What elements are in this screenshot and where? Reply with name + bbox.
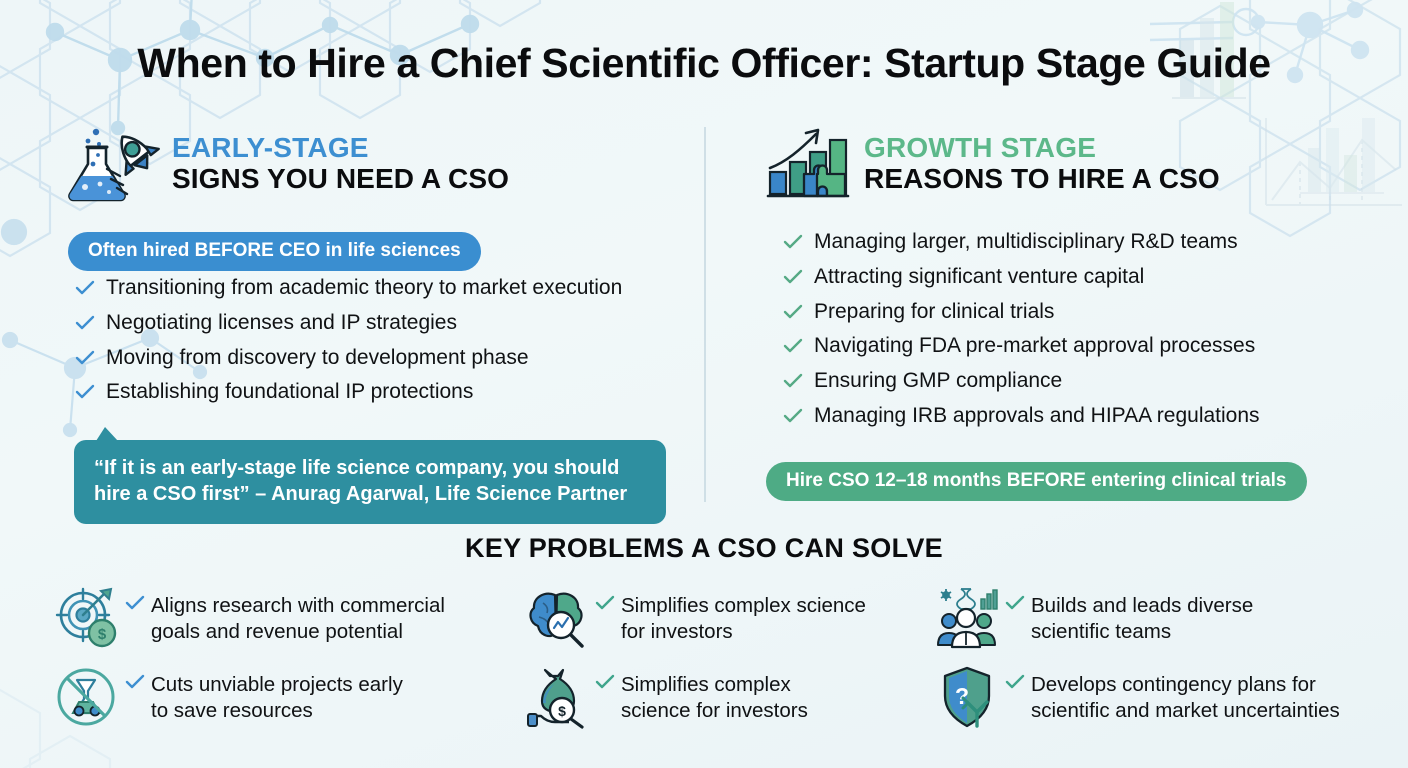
list-item: Navigating FDA pre-market approval proce… [784, 334, 1364, 359]
check-icon [784, 409, 802, 428]
growth-stage-list: Managing larger, multidisciplinary R&D t… [784, 230, 1364, 439]
check-icon [76, 281, 94, 300]
problem-line-2: to save resources [151, 699, 313, 722]
problem-line-1: Cuts unviable projects early [151, 673, 403, 696]
check-icon [125, 664, 145, 694]
list-item: Ensuring GMP compliance [784, 369, 1364, 394]
money-bag-magnifier-icon: $ [525, 664, 589, 730]
growth-chart-puzzle-icon [766, 124, 850, 202]
problem-line-1: Develops contingency plans for [1031, 673, 1316, 696]
svg-text:$: $ [558, 703, 566, 719]
growth-stage-headline: REASONS TO HIRE A CSO [864, 164, 1220, 193]
check-icon [125, 585, 145, 615]
column-divider [704, 127, 706, 502]
early-stage-kicker: EARLY-STAGE [172, 133, 509, 162]
problem-item: Cuts unviable projects early to save res… [55, 664, 525, 743]
problem-item: ? Develops contingency plans for scienti… [935, 664, 1375, 743]
list-item: Transitioning from academic theory to ma… [76, 276, 696, 301]
early-stage-header: EARLY-STAGE SIGNS YOU NEED A CSO [66, 122, 686, 204]
problem-line-1: Aligns research with commercial [151, 594, 445, 617]
growth-stage-badge: Hire CSO 12–18 months BEFORE entering cl… [766, 462, 1307, 501]
infographic-page: When to Hire a Chief Scientific Officer:… [0, 0, 1408, 768]
problem-item: Builds and leads diverse scientific team… [935, 585, 1375, 664]
growth-stage-kicker: GROWTH STAGE [864, 133, 1220, 162]
problem-line-2: scientific and market uncertainties [1031, 699, 1340, 722]
check-icon [1005, 664, 1025, 694]
problem-line-1: Builds and leads diverse [1031, 594, 1253, 617]
early-stage-badge: Often hired BEFORE CEO in life sciences [68, 232, 481, 271]
list-item-label: Ensuring GMP compliance [814, 369, 1062, 394]
check-icon [76, 385, 94, 404]
science-team-icon [935, 585, 999, 651]
problem-line-1: Simplifies complex science [621, 594, 866, 617]
check-icon [595, 585, 615, 615]
check-icon [595, 664, 615, 694]
problem-item: Simplifies complex science for investors [525, 585, 935, 664]
list-item: Managing larger, multidisciplinary R&D t… [784, 230, 1364, 255]
problem-item: $ Simplifies complex science for investo… [525, 664, 935, 743]
early-stage-list: Transitioning from academic theory to ma… [76, 276, 696, 415]
list-item-label: Managing IRB approvals and HIPAA regulat… [814, 404, 1260, 429]
problem-line-2: for investors [621, 620, 733, 643]
list-item-label: Establishing foundational IP protections [106, 380, 473, 405]
problem-label: Simplifies complex science for investors [621, 585, 866, 645]
list-item-label: Transitioning from academic theory to ma… [106, 276, 622, 301]
quote-bubble: “If it is an early-stage life science co… [74, 440, 666, 524]
stage-columns: EARLY-STAGE SIGNS YOU NEED A CSO Often h… [0, 122, 1408, 507]
list-item-label: Moving from discovery to development pha… [106, 346, 529, 371]
list-item-label: Navigating FDA pre-market approval proce… [814, 334, 1255, 359]
early-stage-column: EARLY-STAGE SIGNS YOU NEED A CSO Often h… [66, 122, 686, 204]
problem-line-2: scientific teams [1031, 620, 1171, 643]
no-project-icon [55, 664, 119, 730]
problem-label: Builds and leads diverse scientific team… [1031, 585, 1253, 645]
growth-stage-badge-wrap: Hire CSO 12–18 months BEFORE entering cl… [766, 462, 1307, 501]
flask-rocket-icon [66, 124, 158, 202]
check-icon [784, 270, 802, 289]
list-item-label: Negotiating licenses and IP strategies [106, 311, 457, 336]
check-icon [784, 305, 802, 324]
check-icon [784, 339, 802, 358]
brain-magnifier-icon [525, 585, 589, 651]
problem-label: Aligns research with commercial goals an… [151, 585, 445, 645]
early-stage-headline: SIGNS YOU NEED A CSO [172, 164, 509, 193]
target-money-icon: $ [55, 585, 119, 651]
list-item: Establishing foundational IP protections [76, 380, 696, 405]
problem-label: Simplifies complex science for investors [621, 664, 808, 724]
key-problems-grid: $ Aligns research with commercial goals … [55, 585, 1375, 743]
problem-line-2: goals and revenue potential [151, 620, 403, 643]
check-icon [784, 374, 802, 393]
list-item: Preparing for clinical trials [784, 300, 1364, 325]
list-item-label: Attracting significant venture capital [814, 265, 1144, 290]
list-item: Negotiating licenses and IP strategies [76, 311, 696, 336]
growth-stage-column: GROWTH STAGE REASONS TO HIRE A CSO Manag… [766, 122, 1366, 204]
check-icon [1005, 585, 1025, 615]
problem-line-1: Simplifies complex [621, 673, 791, 696]
list-item: Moving from discovery to development pha… [76, 346, 696, 371]
problem-item: $ Aligns research with commercial goals … [55, 585, 525, 664]
early-stage-badge-wrap: Often hired BEFORE CEO in life sciences [68, 232, 481, 271]
page-title: When to Hire a Chief Scientific Officer:… [0, 40, 1408, 87]
list-item: Managing IRB approvals and HIPAA regulat… [784, 404, 1364, 429]
check-icon [76, 316, 94, 335]
check-icon [76, 351, 94, 370]
problem-label: Develops contingency plans for scientifi… [1031, 664, 1340, 724]
shield-question-path-icon: ? [935, 664, 999, 730]
problem-line-2: science for investors [621, 699, 808, 722]
problem-label: Cuts unviable projects early to save res… [151, 664, 403, 724]
growth-stage-header: GROWTH STAGE REASONS TO HIRE A CSO [766, 122, 1366, 204]
list-item: Attracting significant venture capital [784, 265, 1364, 290]
list-item-label: Managing larger, multidisciplinary R&D t… [814, 230, 1238, 255]
key-problems-heading: KEY PROBLEMS A CSO CAN SOLVE [0, 533, 1408, 564]
check-icon [784, 235, 802, 254]
svg-text:$: $ [98, 626, 107, 643]
list-item-label: Preparing for clinical trials [814, 300, 1054, 325]
